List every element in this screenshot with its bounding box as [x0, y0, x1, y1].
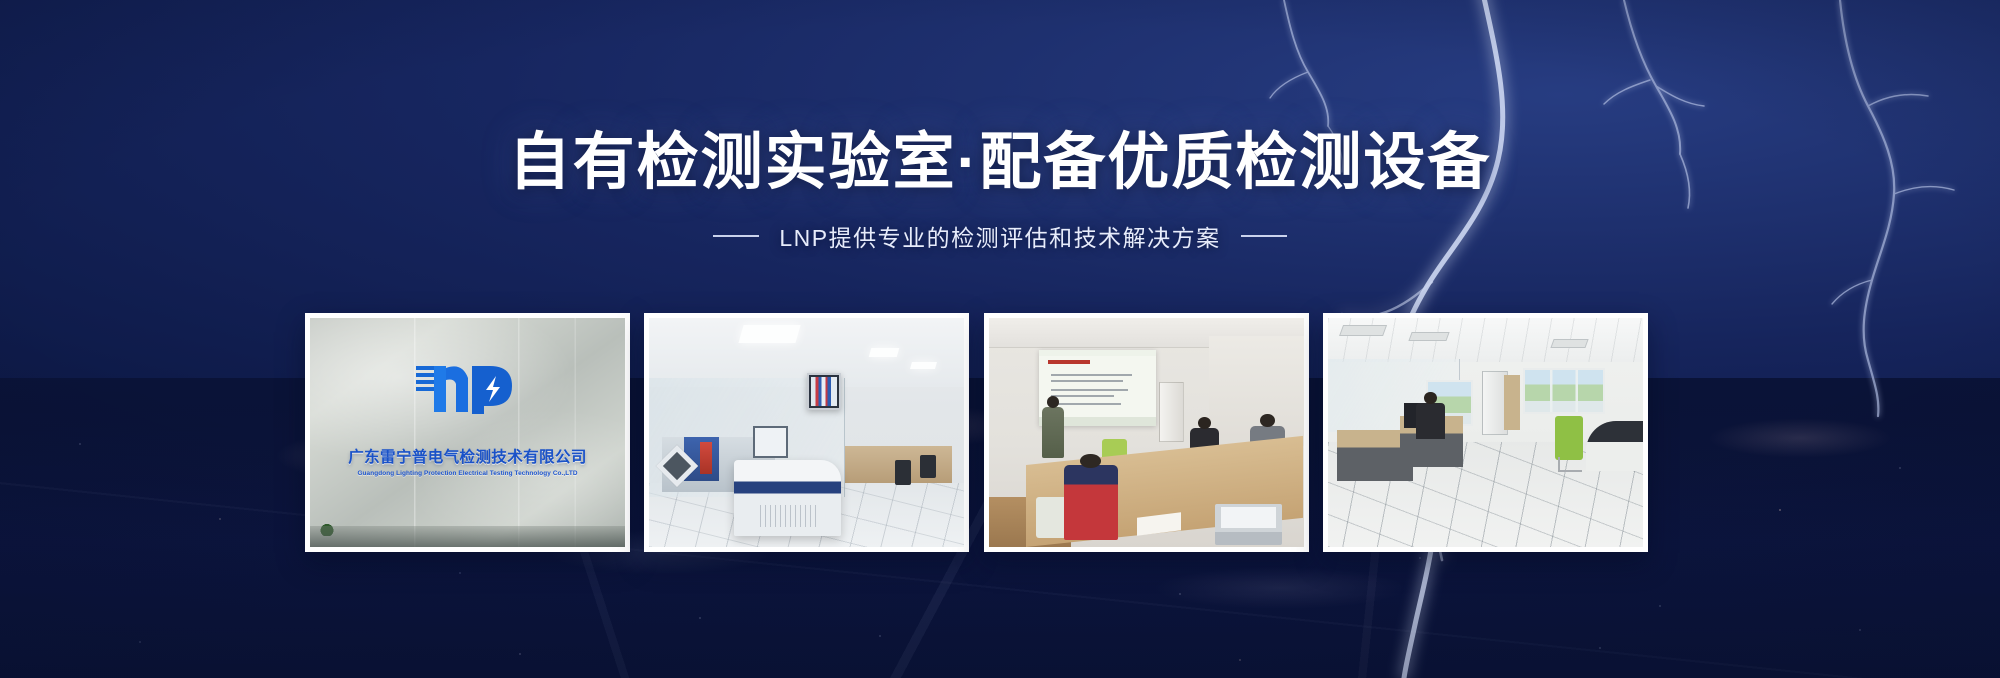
- photo-high-voltage-lab: [649, 318, 964, 547]
- headline-block: 自有检测实验室·配备优质检测设备 LNP提供专业的检测评估和技术解决方案: [0, 128, 2000, 253]
- lab-insulator-red: [700, 442, 713, 474]
- ceiling-vent: [1338, 325, 1386, 336]
- wall-monitor-screen: [807, 373, 842, 410]
- slide-text-line: [1051, 374, 1133, 376]
- slide-text-line: [1051, 403, 1121, 405]
- gallery-card-training-meeting-room[interactable]: [984, 313, 1309, 552]
- presenter-person: [1042, 407, 1064, 457]
- signage-floor: [310, 526, 625, 547]
- signage-company-name-cn: 广东雷宁普电气检测技术有限公司: [348, 445, 587, 467]
- gallery-card-company-signage[interactable]: 广东雷宁普电气检测技术有限公司 Guangdong Lighting Prote…: [305, 313, 630, 552]
- reception-counter: [1586, 421, 1643, 471]
- slide-text-line: [1051, 389, 1128, 391]
- office-worker-person: [1416, 403, 1444, 440]
- laptop-computer: [1215, 504, 1281, 545]
- signage-company-name-en: Guangdong Lighting Protection Electrical…: [357, 470, 577, 477]
- office-window: [1523, 368, 1605, 414]
- photo-training-meeting-room: [989, 318, 1304, 547]
- ceiling-vent: [1408, 332, 1449, 341]
- photo-gallery: 广东雷宁普电气检测技术有限公司 Guangdong Lighting Prote…: [305, 313, 1648, 552]
- slide-text-line: [1051, 380, 1123, 382]
- ceiling-light: [738, 325, 800, 343]
- lnp-logo-icon: [412, 358, 524, 420]
- photo-open-office: [1328, 318, 1643, 547]
- attendee-person-red-jacket: [1064, 465, 1118, 541]
- air-conditioner-cabinet: [1159, 382, 1184, 442]
- slide-text-line: [1051, 395, 1114, 397]
- page-title: 自有检测实验室·配备优质检测设备: [0, 128, 2000, 197]
- rule-right-decoration: [1241, 235, 1287, 237]
- ceiling-vent: [1550, 339, 1588, 348]
- office-shelf: [1504, 375, 1520, 430]
- gallery-card-open-office[interactable]: [1323, 313, 1648, 552]
- photo-company-signage: 广东雷宁普电气检测技术有限公司 Guangdong Lighting Prote…: [310, 318, 625, 547]
- console-monitor: [753, 426, 788, 458]
- hero-banner: 自有检测实验室·配备优质检测设备 LNP提供专业的检测评估和技术解决方案: [0, 0, 2000, 678]
- lab-control-console: [734, 460, 841, 536]
- slide-title-bar: [1048, 360, 1090, 364]
- white-chair: [1036, 497, 1068, 538]
- page-subtitle: LNP提供专业的检测评估和技术解决方案: [779, 219, 1220, 253]
- ceiling-light: [869, 348, 900, 357]
- green-visitor-chair: [1555, 416, 1583, 460]
- office-chair: [920, 455, 936, 478]
- rule-left-decoration: [713, 235, 759, 237]
- gallery-card-high-voltage-lab[interactable]: [644, 313, 969, 552]
- wall-panel-seams: [310, 318, 625, 547]
- ceiling-light: [910, 362, 937, 369]
- subtitle-row: LNP提供专业的检测评估和技术解决方案: [0, 219, 2000, 253]
- office-chair: [895, 460, 911, 485]
